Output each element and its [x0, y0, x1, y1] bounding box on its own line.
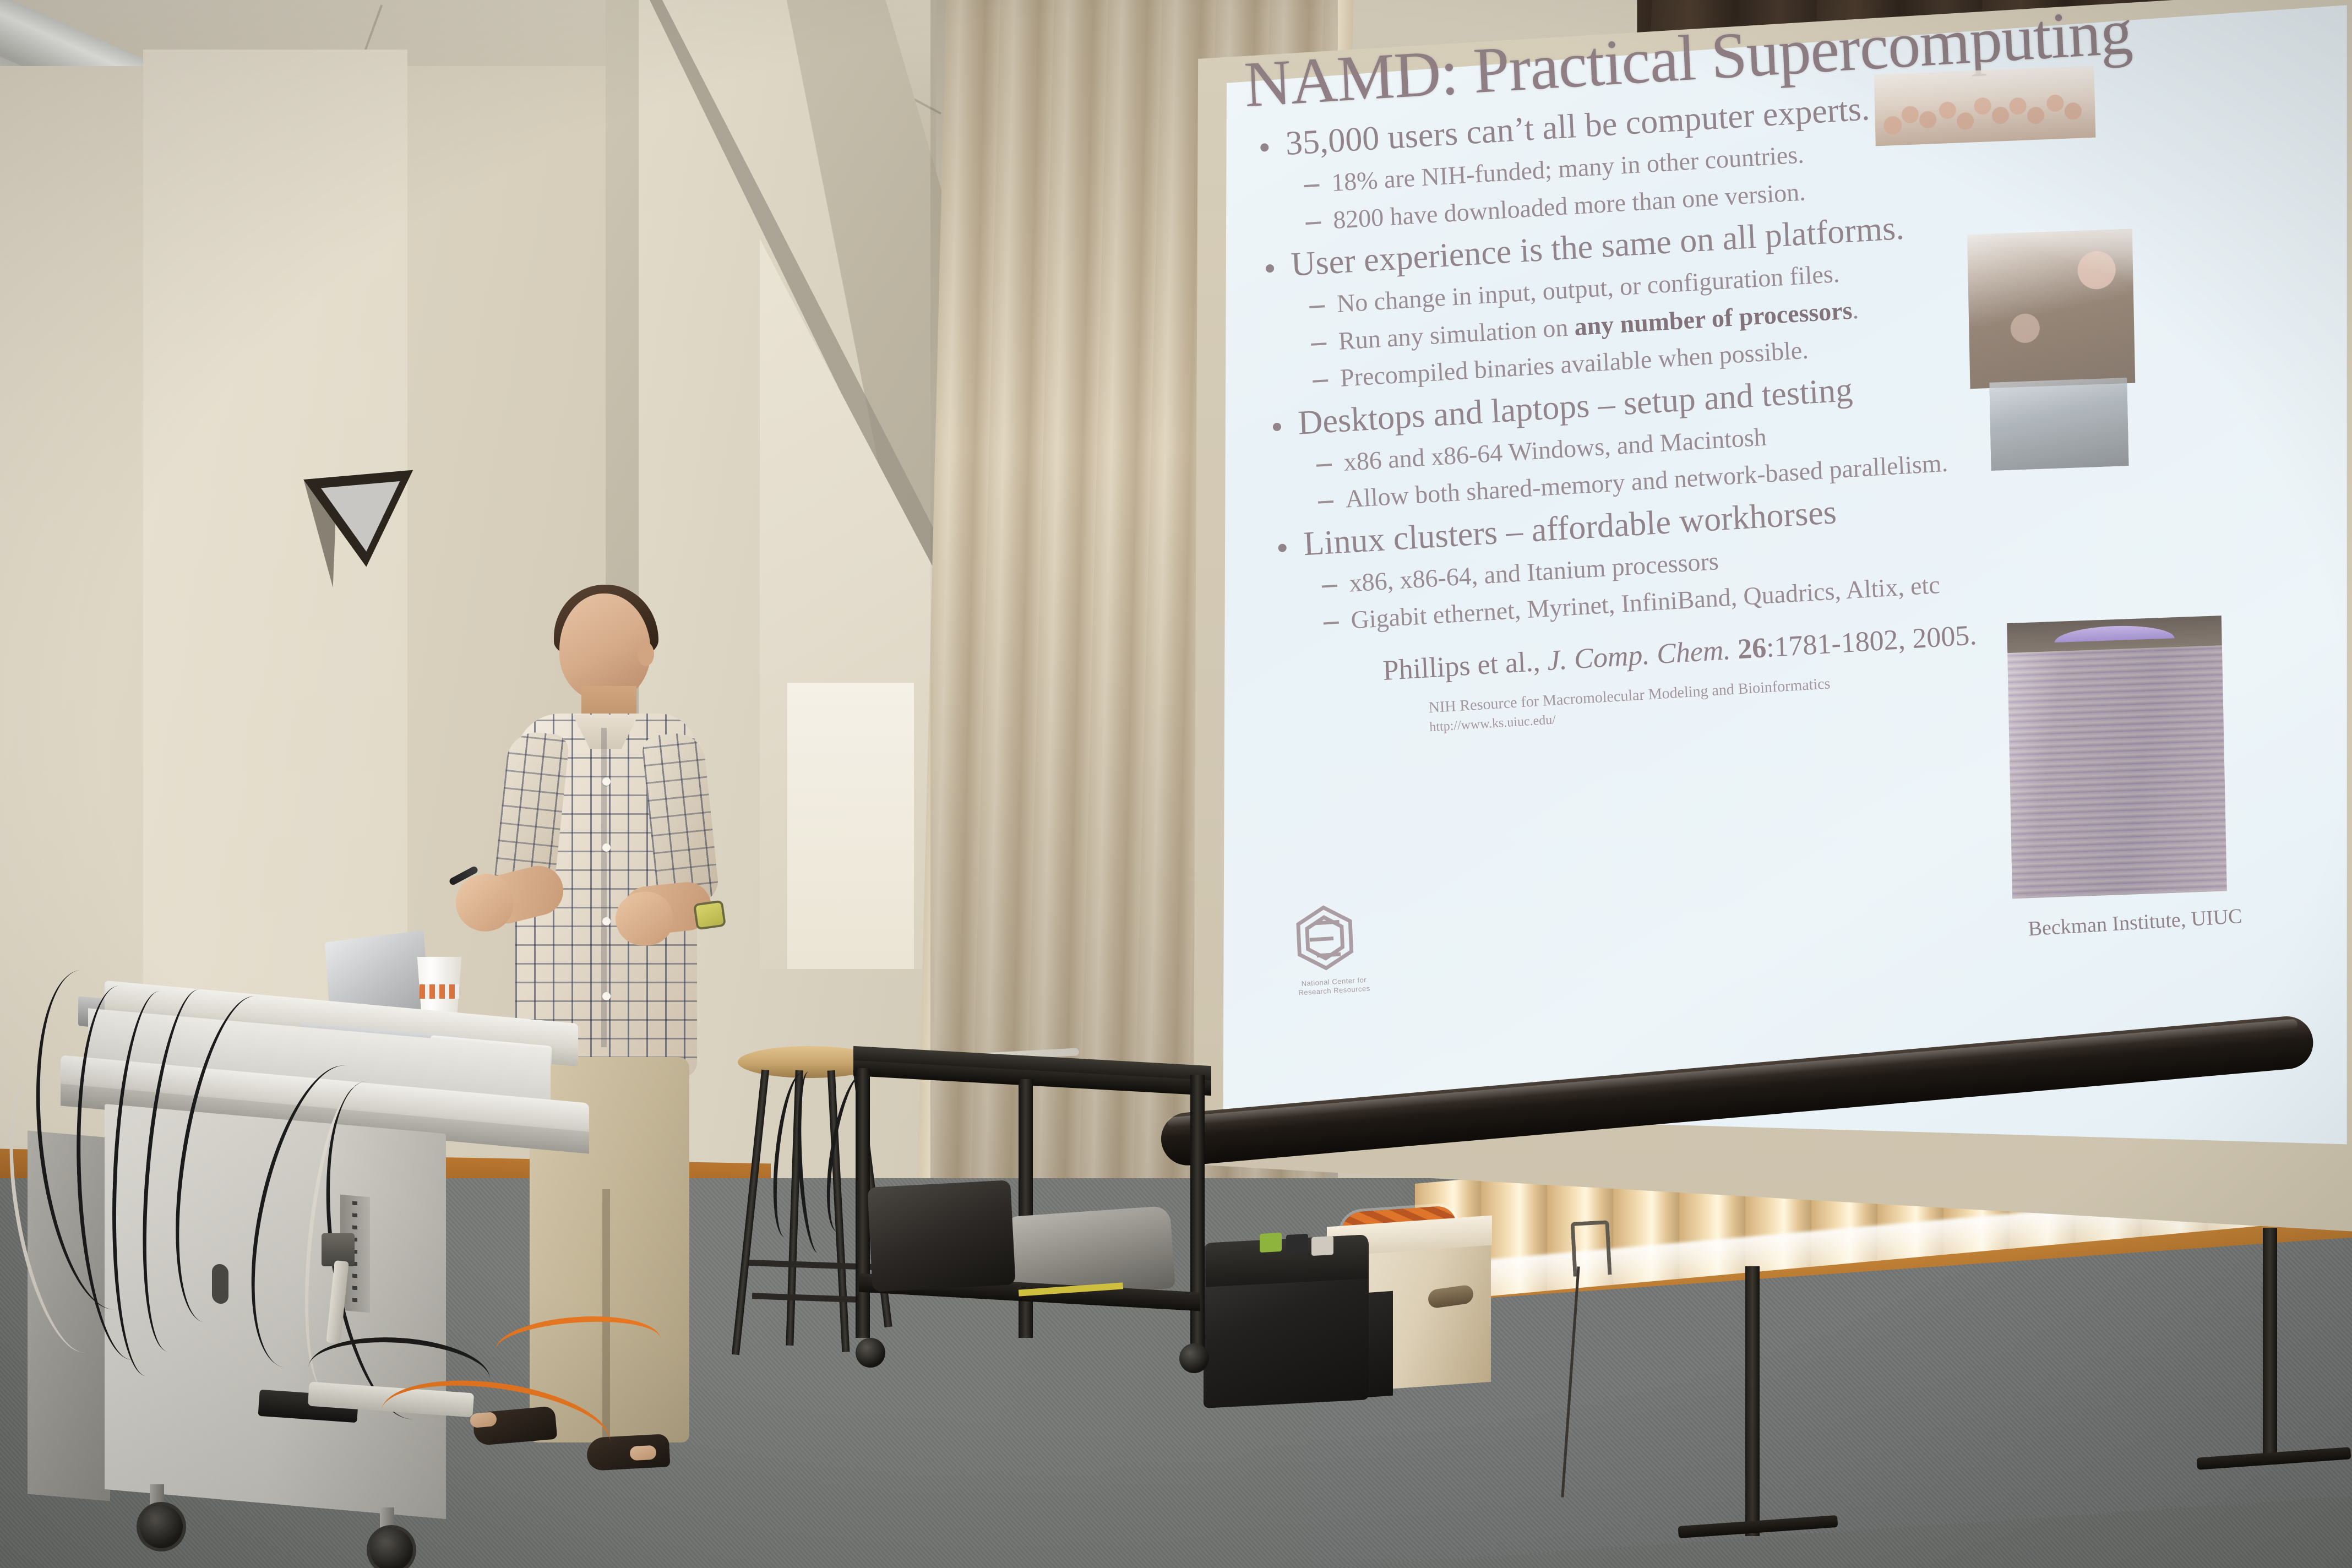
screen-stand-leg-left: [1745, 1266, 1760, 1536]
bag-tag-dark: [1286, 1234, 1308, 1254]
presenter-toes-right: [629, 1445, 656, 1461]
stool-rung: [752, 1293, 870, 1303]
citation-pages-year: :1781-1802, 2005.: [1766, 619, 1978, 663]
cart-caster: [856, 1338, 885, 1368]
cluster-photo-image: [2007, 616, 2227, 899]
presenter-wristwatch: [693, 900, 726, 930]
cart-caster: [1179, 1343, 1209, 1373]
slide: NAMD: Practical Supercomputing 35,000 us…: [1228, 0, 2338, 1139]
presenter-ear: [638, 642, 654, 666]
slide-bullet-list: 35,000 users can’t all be computer exper…: [1251, 65, 2316, 639]
citation-journal: J. Comp. Chem.: [1547, 634, 1732, 677]
presenter-head: [559, 594, 651, 701]
wall-sconce-glass: [321, 481, 406, 555]
ncrr-logo-caption: National Center for Research Resources: [1284, 974, 1384, 998]
podium-caster: [137, 1502, 186, 1551]
citation-volume: 26: [1737, 632, 1767, 665]
shirt-button: [602, 777, 611, 786]
shirt-button: [602, 843, 611, 852]
slide-image-caption: Beckman Institute, UIUC: [2028, 904, 2243, 941]
cart-stowed-bag: [867, 1180, 1016, 1292]
emphasis-text: any number of processors: [1574, 296, 1853, 340]
group-photo-image: [1874, 66, 2096, 146]
laptop-photo-image: [1989, 378, 2128, 471]
bag-tag-light: [1311, 1236, 1333, 1256]
citation-authors: Phillips et al.,: [1382, 646, 1541, 687]
podium-caster: [367, 1525, 416, 1568]
wall-niche: [787, 683, 914, 969]
ncrr-hexagon-logo-icon: [1291, 901, 1359, 978]
screen-stand-leg-right: [2263, 1228, 2277, 1464]
workshop-photo-image: [1967, 229, 2135, 389]
bag-tag-green: [1260, 1233, 1282, 1253]
lecture-room-photo: NAMD: Practical Supercomputing 35,000 us…: [0, 0, 2352, 1568]
coffee-cup-band: [420, 984, 459, 999]
